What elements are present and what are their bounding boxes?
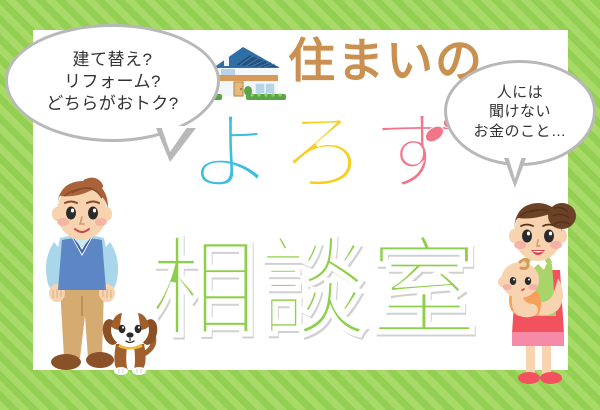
bubble-right-line-2: 聞けない <box>489 102 551 121</box>
headline-top-row: 住まいの <box>178 38 484 85</box>
bubble-right-line-3: お金のこと… <box>473 122 566 141</box>
bubble-left-line-1: 建て替え? <box>73 49 153 71</box>
title-char-yo: よ <box>188 110 280 196</box>
mother-holding-baby-illustration <box>488 198 588 399</box>
beagle-dog-illustration <box>100 310 162 381</box>
promo-banner: 住まいの よ ろ す 相談室 建て替え? リフォーム? どちらがおトク? 人には… <box>0 0 600 410</box>
bubble-left-line-2: リフォーム? <box>64 71 161 93</box>
title-sumaino: 住まいの <box>288 38 484 85</box>
bubble-right-tail <box>504 158 526 188</box>
bubble-left-line-3: どちらがおトク? <box>46 93 178 115</box>
bubble-left-tail <box>156 128 196 162</box>
question-bubble-left: 建て替え? リフォーム? どちらがおトク? <box>5 24 220 142</box>
question-bubble-right: 人には 聞けない お金のこと… <box>444 60 596 166</box>
title-char-ro: ろ <box>280 110 372 196</box>
bubble-right-line-1: 人には <box>497 83 544 102</box>
title-yorozu: よ ろ す <box>188 110 464 196</box>
title-soudanshitsu: 相談室 <box>150 236 480 344</box>
